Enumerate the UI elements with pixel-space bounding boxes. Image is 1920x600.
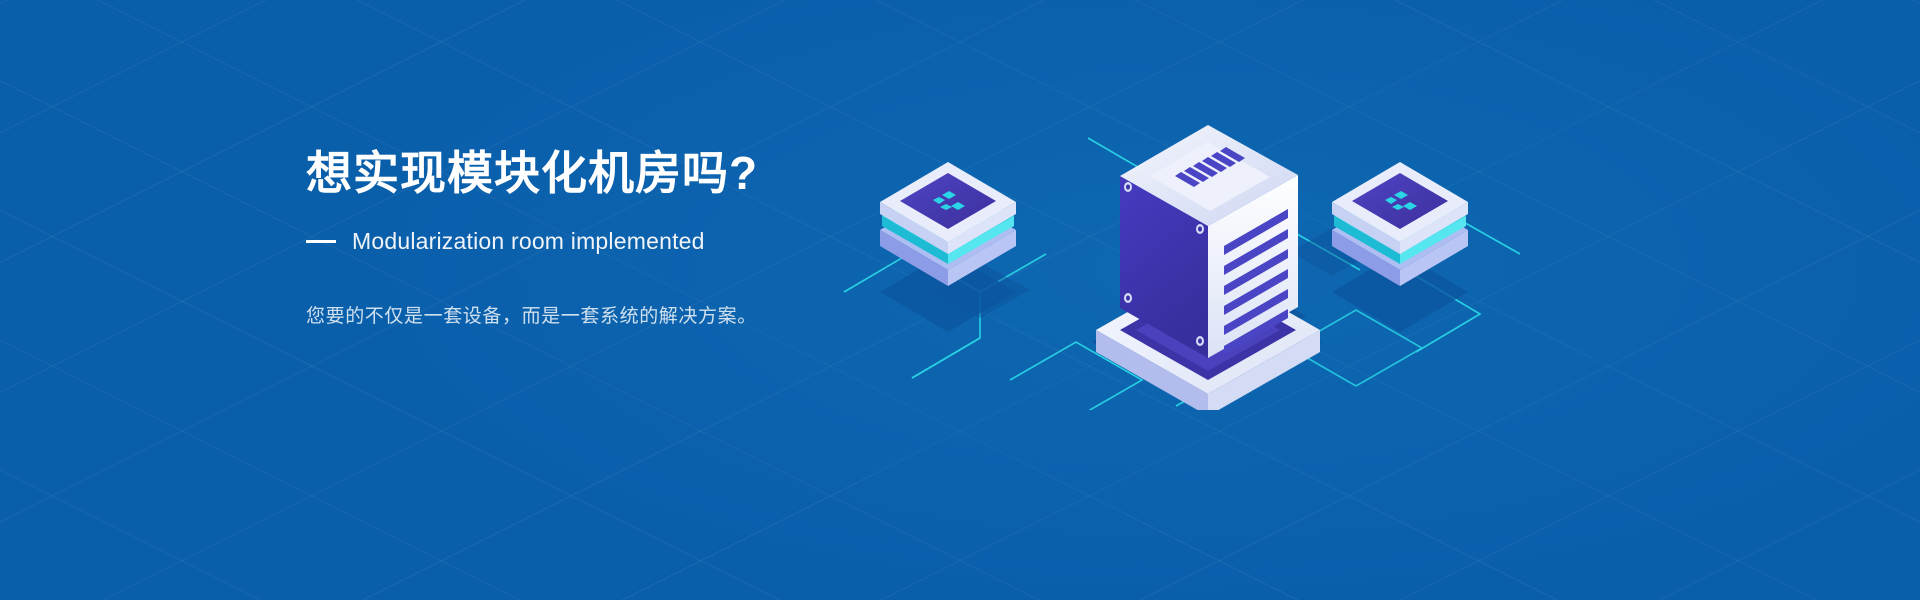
isometric-server-illustration xyxy=(820,80,1540,410)
hero-banner: 想实现模块化机房吗? Modularization room implement… xyxy=(0,0,1920,600)
server-tower xyxy=(1092,125,1322,410)
accent-dash-icon xyxy=(306,240,336,243)
hero-subtitle: Modularization room implemented xyxy=(352,228,705,255)
chip-module-right xyxy=(1332,162,1468,332)
